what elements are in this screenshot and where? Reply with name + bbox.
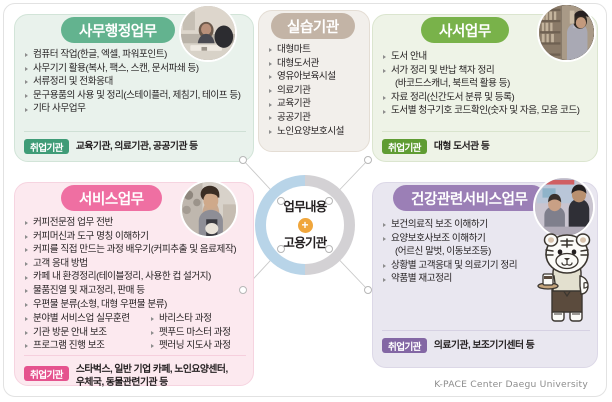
list-item: 도서별 청구기호 코드확인(숫자 및 자음, 모음 코드) bbox=[382, 104, 580, 118]
panel-health-divider bbox=[382, 330, 590, 331]
list-item: 서류정리 및 전화응대 bbox=[24, 75, 241, 89]
list-item: 펫러닝 지도사 과정 bbox=[150, 339, 230, 353]
list-item: 분야별 서비스업 실무훈련 bbox=[24, 312, 130, 326]
panel-office-employer: 취업기관 교육기관, 의료기관, 공공기관 등 bbox=[24, 139, 198, 154]
library-shelving-photo bbox=[537, 3, 596, 62]
employer-value-line-2: 우체국, 동물관련기관 등 bbox=[76, 376, 228, 389]
list-item: (어르신 말벗, 이동보조등) bbox=[382, 245, 517, 259]
tiger-mascot-with-tray bbox=[534, 228, 600, 328]
employer-value: 스타벅스, 일반 기업 카페, 노인요양센터, 우체국, 동물관련기관 등 bbox=[76, 362, 228, 389]
panel-health-employer: 취업기관 의료기관, 보조기기센터 등 bbox=[382, 338, 534, 353]
office-photo-graphic bbox=[181, 6, 235, 60]
panel-office-title: 사무행정업무 bbox=[61, 17, 175, 43]
library-photo-graphic bbox=[539, 5, 594, 60]
panel-service-list-col-left: 분야별 서비스업 실무훈련 기관 방문 안내 보조 프로그램 진행 보조 bbox=[24, 312, 130, 353]
employer-value: 대형 도서관 등 bbox=[434, 139, 490, 153]
panel-service-divider bbox=[24, 355, 246, 356]
list-item: 기타 사무업무 bbox=[24, 102, 241, 116]
hub-node-bottom-right bbox=[325, 245, 333, 253]
panel-service-title: 서비스업무 bbox=[61, 185, 162, 211]
hub-node-top-right bbox=[325, 197, 333, 205]
list-item: 노인요양보호시설 bbox=[268, 125, 344, 139]
link-node-office bbox=[239, 156, 247, 164]
infographic-root: 사무행정업무 컴퓨터 작업(한글, 엑셀, 파워포인트) 사무기기 활용(복사,… bbox=[0, 0, 612, 402]
list-item: 자료 정리(신간도서 분류 및 등록) bbox=[382, 91, 580, 105]
panel-library-divider bbox=[382, 131, 590, 132]
hub-label-top: 업무내용 bbox=[283, 200, 326, 215]
employer-value: 의료기관, 보조기기센터 등 bbox=[434, 338, 534, 352]
list-item: 교육기관 bbox=[268, 97, 344, 111]
list-item: 약품별 재고정리 bbox=[382, 272, 517, 286]
employer-value: 교육기관, 의료기관, 공공기관 등 bbox=[76, 139, 198, 153]
hub-node-top-left bbox=[277, 197, 285, 205]
list-item: 영유아보육시설 bbox=[268, 70, 344, 84]
list-item: 사무기기 활용(복사, 팩스, 스캔, 문서파쇄 등) bbox=[24, 62, 241, 76]
list-item: (바코드스캐너, 북트럭 활용 등) bbox=[382, 77, 580, 91]
panel-library-employer: 취업기관 대형 도서관 등 bbox=[382, 139, 489, 154]
list-item: 물품진열 및 재고정리, 판매 등 bbox=[24, 284, 236, 298]
panel-library-list: 도서 안내 서가 정리 및 반납 책자 정리 (바코드스캐너, 북트럭 활용 등… bbox=[382, 50, 580, 118]
link-node-service bbox=[239, 286, 247, 294]
list-item: 우편물 분류(소형, 대형 우편물 분류) bbox=[24, 298, 236, 312]
hub-node-bottom-left bbox=[277, 245, 285, 253]
list-item: 의료기관 bbox=[268, 84, 344, 98]
list-item: 요양보호사보조 이해하기 bbox=[382, 232, 517, 246]
list-item: 커피를 직접 만드는 과정 배우기(커피추출 및 음료제작) bbox=[24, 243, 236, 257]
panel-internship-institutions[interactable]: 실습기관 대형마트 대형도서관 영유아보육시설 의료기관 교육기관 공공기관 노… bbox=[258, 10, 370, 152]
link-node-library bbox=[364, 156, 372, 164]
tiger-mascot-graphic bbox=[534, 228, 600, 328]
panel-health-list: 보건의료직 보조 이해하기 요양보호사보조 이해하기 (어르신 말벗, 이동보조… bbox=[382, 218, 517, 286]
center-hub: 업무내용 + 고용기관 bbox=[255, 175, 355, 275]
list-item: 공공기관 bbox=[268, 111, 344, 125]
employer-value-line-1: 스타벅스, 일반 기업 카페, 노인요양센터, bbox=[76, 363, 228, 376]
panel-library-title: 사서업무 bbox=[421, 17, 509, 43]
panel-internship-list: 대형마트 대형도서관 영유아보육시설 의료기관 교육기관 공공기관 노인요양보호… bbox=[268, 43, 344, 138]
footer-credit: K-PACE Center Daegu University bbox=[434, 379, 588, 390]
list-item: 보건의료직 보조 이해하기 bbox=[382, 218, 517, 232]
list-item: 대형마트 bbox=[268, 43, 344, 57]
panel-office-divider bbox=[24, 131, 246, 132]
list-item: 펫푸드 마스터 과정 bbox=[150, 326, 230, 340]
panel-internship-title: 실습기관 bbox=[271, 13, 355, 39]
link-node-health bbox=[364, 286, 372, 294]
employer-label-badge: 취업기관 bbox=[382, 338, 427, 353]
list-item: 문구용품의 사용 및 정리(스테이플러, 제침기, 테이프 등) bbox=[24, 89, 241, 103]
list-item: 바리스타 과정 bbox=[150, 312, 230, 326]
employer-label-badge: 취업기관 bbox=[24, 366, 69, 381]
list-item: 서가 정리 및 반납 책자 정리 bbox=[382, 64, 580, 78]
cafe-photo-graphic bbox=[182, 182, 236, 236]
list-item: 프로그램 진행 보조 bbox=[24, 339, 130, 353]
panel-health-title: 건강관련서비스업무 bbox=[393, 185, 545, 211]
panel-service-list-col-right: 바리스타 과정 펫푸드 마스터 과정 펫러닝 지도사 과정 bbox=[150, 312, 230, 353]
list-item: 상황별 고객응대 및 의료기기 정리 bbox=[382, 259, 517, 273]
panel-service-employer: 취업기관 스타벅스, 일반 기업 카페, 노인요양센터, 우체국, 동물관련기관… bbox=[24, 362, 228, 389]
hub-label-bottom: 고용기관 bbox=[283, 236, 326, 251]
list-item: 대형도서관 bbox=[268, 57, 344, 71]
cafe-barista-photo bbox=[180, 180, 238, 238]
list-item: 기관 방문 안내 보조 bbox=[24, 326, 130, 340]
employer-label-badge: 취업기관 bbox=[382, 139, 427, 154]
plus-icon: + bbox=[298, 218, 313, 233]
office-work-photo bbox=[179, 4, 237, 62]
list-item: 고객 응대 방법 bbox=[24, 257, 236, 271]
employer-label-badge: 취업기관 bbox=[24, 139, 69, 154]
list-item: 카페 내 환경정리(테이블정리, 사용한 컵 설거지) bbox=[24, 270, 236, 284]
